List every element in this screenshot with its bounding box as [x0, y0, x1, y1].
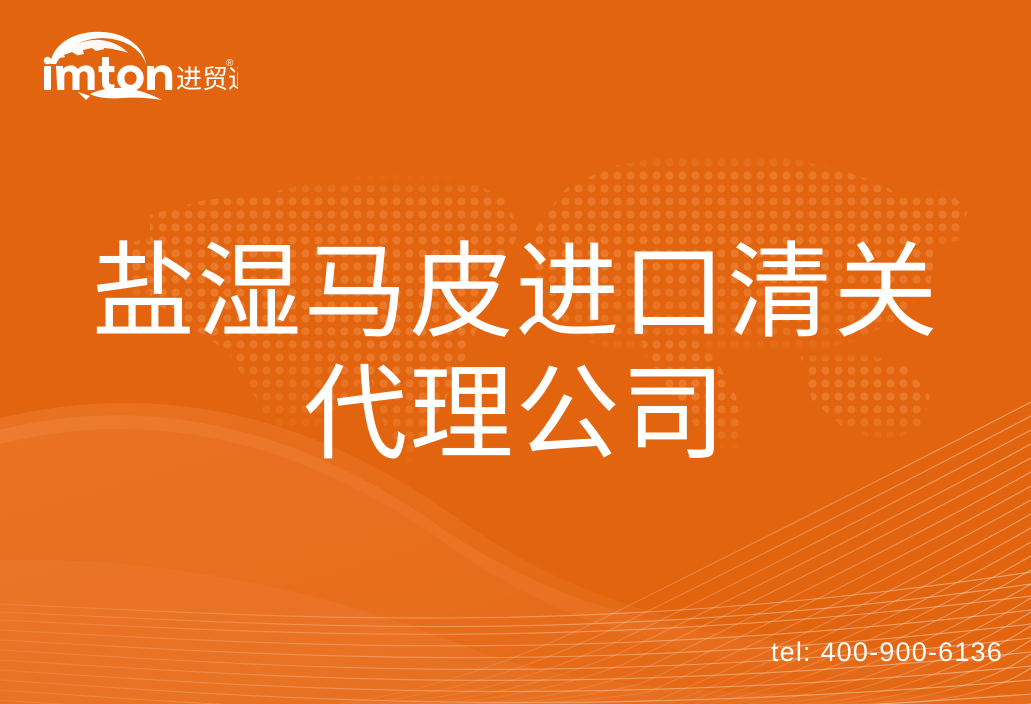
logo-wordmark — [44, 57, 173, 91]
contact-phone[interactable]: tel: 400-900-6136 — [771, 637, 1003, 668]
registered-icon: ® — [226, 58, 234, 69]
title-line-2: 代理公司 — [0, 354, 1031, 476]
globe-icon — [50, 32, 146, 64]
title-line-1: 盐湿马皮进口清关 — [0, 232, 1031, 354]
banner-canvas: 进贸通 ® 盐湿马皮进口清关 代理公司 tel: 400-900-6136 — [0, 0, 1031, 704]
logo-chinese-mark: 进贸通 — [176, 65, 238, 95]
page-title: 盐湿马皮进口清关 代理公司 — [0, 232, 1031, 476]
brand-logo[interactable]: 进贸通 ® — [38, 26, 238, 102]
